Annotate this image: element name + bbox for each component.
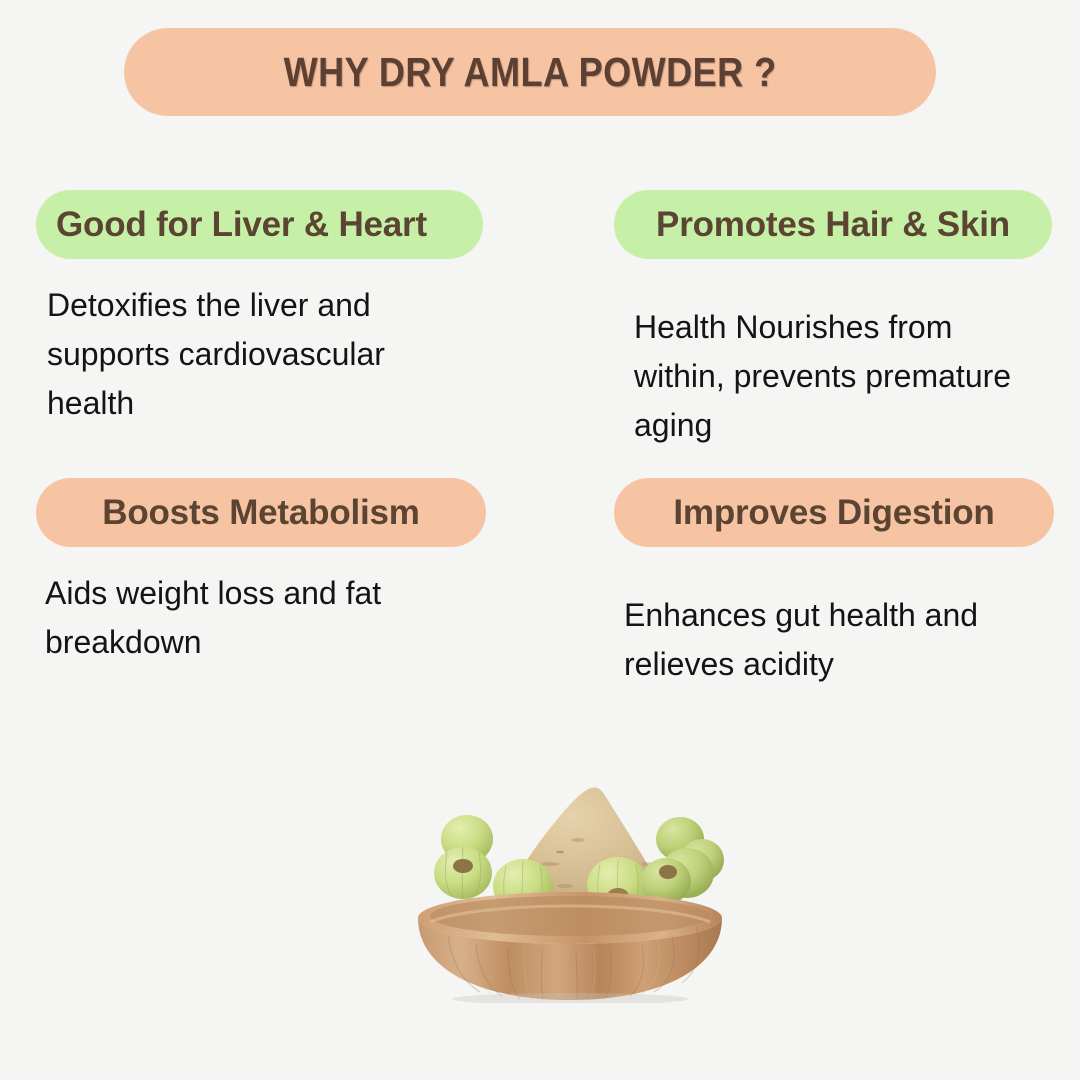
benefit-row-top: Good for Liver & Heart Promotes Hair & S…	[0, 190, 1080, 259]
benefit-card-digestion: Improves Digestion	[540, 478, 1080, 547]
benefit-card-metabolism: Boosts Metabolism	[0, 478, 540, 547]
benefit-heading-label: Boosts Metabolism	[102, 493, 419, 533]
bowl-shadow	[452, 993, 688, 1003]
header-banner: WHY DRY AMLA POWDER ?	[124, 28, 936, 116]
benefit-heading-label: Good for Liver & Heart	[56, 205, 427, 245]
benefit-description-metabolism: Aids weight loss and fat breakdown	[45, 569, 475, 667]
benefits-grid: Good for Liver & Heart Promotes Hair & S…	[0, 190, 1080, 689]
benefit-card-hair-skin: Promotes Hair & Skin	[540, 190, 1080, 259]
benefit-description-digestion: Enhances gut health and relieves acidity	[624, 591, 1054, 689]
amla-stem	[453, 859, 473, 873]
amla-bowl-image	[400, 768, 740, 1003]
benefit-heading-pill-metabolism: Boosts Metabolism	[36, 478, 486, 547]
benefit-heading-label: Promotes Hair & Skin	[656, 205, 1010, 245]
benefit-description-hair-skin: Health Nourishes from within, prevents p…	[634, 303, 1034, 450]
benefit-card-liver-heart: Good for Liver & Heart	[0, 190, 540, 259]
amla-bowl-icon	[400, 768, 740, 1003]
benefit-heading-pill-digestion: Improves Digestion	[614, 478, 1054, 547]
benefit-heading-label: Improves Digestion	[673, 493, 994, 533]
page-title: WHY DRY AMLA POWDER ?	[284, 49, 777, 96]
benefit-heading-pill-liver-heart: Good for Liver & Heart	[36, 190, 483, 259]
benefit-row-bottom: Boosts Metabolism Improves Digestion	[0, 478, 1080, 547]
benefit-description-liver-heart: Detoxifies the liver and supports cardio…	[47, 281, 477, 428]
benefit-heading-pill-hair-skin: Promotes Hair & Skin	[614, 190, 1052, 259]
amla-stem	[659, 865, 677, 879]
